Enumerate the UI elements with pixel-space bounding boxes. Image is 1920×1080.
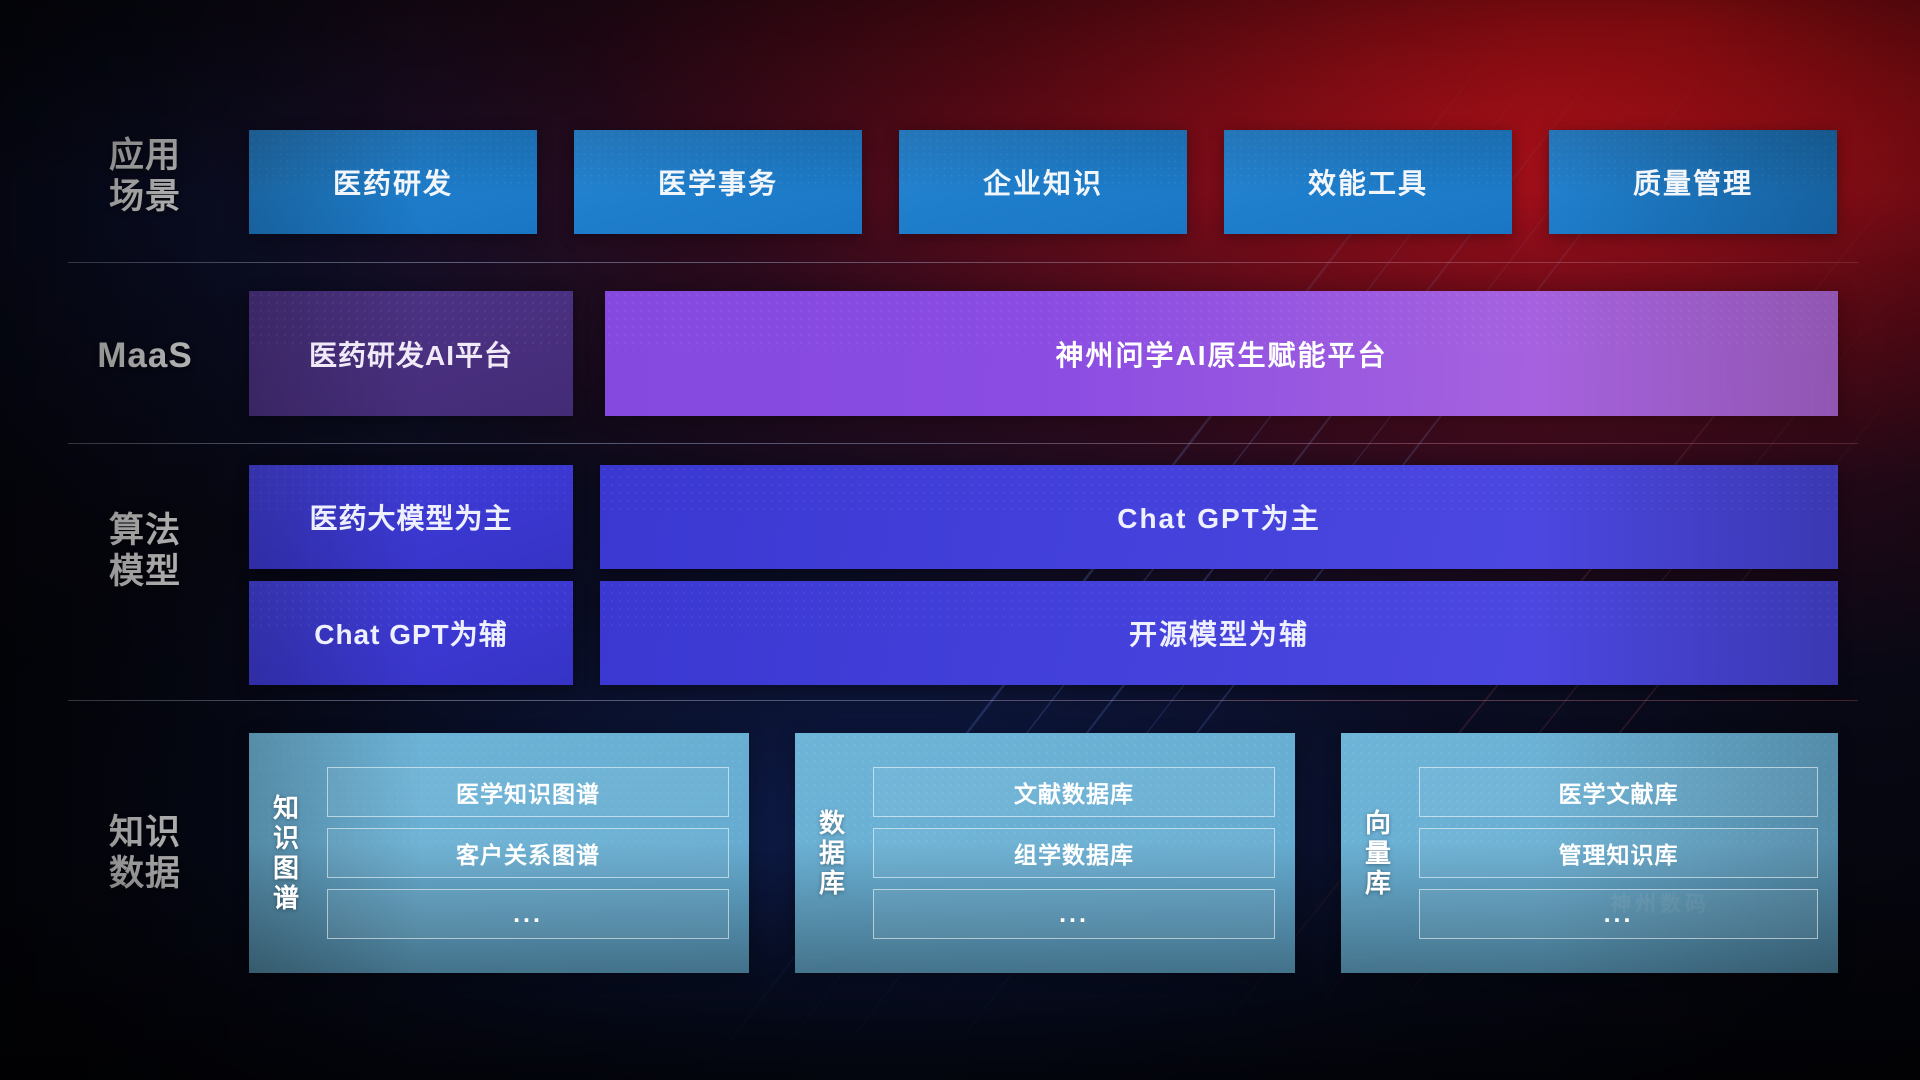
knowledge-item[interactable]: 客户关系图谱 <box>327 828 729 878</box>
algo-right-bar-0[interactable]: Chat GPT为主 <box>600 465 1838 569</box>
knowledge-panel-database[interactable]: 数 据 库 文献数据库 组学数据库 ... <box>795 733 1295 973</box>
maas-platform-bar[interactable]: 神州问学AI原生赋能平台 <box>605 291 1838 416</box>
app-scenario-label: 企业知识 <box>983 162 1103 202</box>
knowledge-panel-knowledge-graph[interactable]: 知 识 图 谱 医学知识图谱 客户关系图谱 ... <box>249 733 749 973</box>
knowledge-item-more[interactable]: ... <box>873 889 1275 939</box>
tier-label-algorithm-models: 算法 模型 <box>50 510 240 593</box>
app-scenario-label: 医学事务 <box>658 162 778 202</box>
algo-right-bar-1[interactable]: 开源模型为辅 <box>600 581 1838 685</box>
maas-left-box[interactable]: 医药研发AI平台 <box>249 291 573 416</box>
tier-label-knowledge-data: 知识 数据 <box>50 812 240 895</box>
algo-right-label: 开源模型为辅 <box>1129 613 1309 653</box>
knowledge-panel-vertical-label: 知 识 图 谱 <box>249 793 323 914</box>
app-scenario-box-3[interactable]: 效能工具 <box>1224 130 1512 234</box>
algo-left-label: 医药大模型为主 <box>309 497 512 537</box>
app-scenario-box-0[interactable]: 医药研发 <box>249 130 537 234</box>
knowledge-item-more[interactable]: ... <box>1419 889 1818 939</box>
knowledge-item-list: 文献数据库 组学数据库 ... <box>869 767 1295 939</box>
knowledge-panel-vector-store[interactable]: 向 量 库 医学文献库 管理知识库 ... <box>1341 733 1838 973</box>
tier-divider-3 <box>68 700 1858 701</box>
knowledge-item-list: 医学知识图谱 客户关系图谱 ... <box>323 767 749 939</box>
app-scenario-box-1[interactable]: 医学事务 <box>574 130 862 234</box>
knowledge-item[interactable]: 医学文献库 <box>1419 767 1818 817</box>
app-scenario-label: 质量管理 <box>1633 162 1753 202</box>
app-scenario-label: 医药研发 <box>333 162 453 202</box>
app-scenario-box-2[interactable]: 企业知识 <box>899 130 1187 234</box>
app-scenario-box-4[interactable]: 质量管理 <box>1549 130 1837 234</box>
knowledge-panel-vertical-label: 向 量 库 <box>1341 808 1415 898</box>
algo-left-label: Chat GPT为辅 <box>314 613 508 653</box>
knowledge-item[interactable]: 医学知识图谱 <box>327 767 729 817</box>
tier-label-maas: MaaS <box>50 335 240 376</box>
architecture-diagram: 应用 场景 医药研发 医学事务 企业知识 效能工具 质量管理 MaaS 医药研发… <box>0 0 1920 1080</box>
knowledge-item[interactable]: 组学数据库 <box>873 828 1275 878</box>
algo-right-label: Chat GPT为主 <box>1117 497 1321 537</box>
knowledge-item[interactable]: 文献数据库 <box>873 767 1275 817</box>
tier-label-application-scenarios: 应用 场景 <box>50 135 240 218</box>
knowledge-item-list: 医学文献库 管理知识库 ... <box>1415 767 1838 939</box>
algo-left-box-0[interactable]: 医药大模型为主 <box>249 465 573 569</box>
tier-divider-2 <box>68 443 1858 444</box>
app-scenario-label: 效能工具 <box>1308 162 1428 202</box>
maas-left-label: 医药研发AI平台 <box>309 334 513 374</box>
knowledge-item[interactable]: 管理知识库 <box>1419 828 1818 878</box>
knowledge-item-more[interactable]: ... <box>327 889 729 939</box>
knowledge-panel-vertical-label: 数 据 库 <box>795 808 869 898</box>
algo-left-box-1[interactable]: Chat GPT为辅 <box>249 581 573 685</box>
tier-divider-1 <box>68 262 1858 263</box>
maas-platform-label: 神州问学AI原生赋能平台 <box>1055 334 1387 374</box>
